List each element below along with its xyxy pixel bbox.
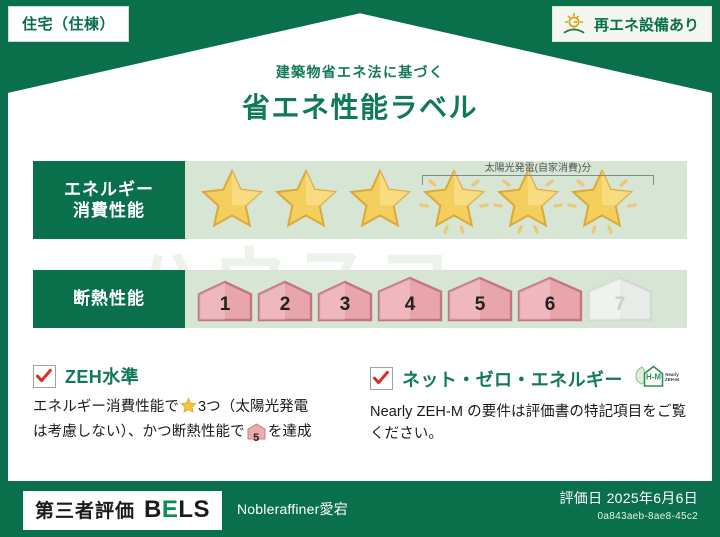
star-base bbox=[343, 165, 417, 235]
evaluation-date: 評価日 2025年6月6日 bbox=[559, 488, 698, 508]
energy-row-label-line1: エネルギー bbox=[64, 179, 154, 200]
insulation-grade-7: 7 bbox=[587, 276, 653, 322]
criterion-net-zero-energy: ネット・ゼロ・エネルギー H-M Nearly ZEH-M Nearly ZEH… bbox=[370, 363, 692, 446]
bels-logo-e: E bbox=[162, 496, 179, 523]
solar-contribution-note: 太陽光発電(自家消費)分 bbox=[422, 159, 654, 185]
criterion-nze-header: ネット・ゼロ・エネルギー H-M Nearly ZEH-M bbox=[370, 363, 692, 394]
insulation-grade-5: 5 bbox=[447, 276, 513, 322]
bels-logo-ls: LS bbox=[178, 496, 210, 523]
criterion-zeh-text-1: エネルギー消費性能で bbox=[33, 399, 179, 415]
criterion-zeh-header: ZEH水準 bbox=[33, 363, 355, 389]
insulation-grade-value: 2 bbox=[257, 294, 313, 316]
bels-jp-label: 第三者評価 bbox=[35, 496, 135, 523]
footer-meta: 評価日 2025年6月6日 0a843aeb-8ae8-45c2 bbox=[559, 488, 698, 522]
criterion-zeh-text-2: 3つ（太陽光発電 bbox=[198, 399, 308, 415]
insulation-grade-value: 1 bbox=[197, 294, 253, 316]
energy-performance-row: エネルギー 消費性能 太陽光発電(自家消費)分 bbox=[33, 161, 687, 239]
check-icon bbox=[370, 367, 393, 390]
energy-row-label-line2: 消費性能 bbox=[73, 200, 145, 221]
energy-row-label: エネルギー 消費性能 bbox=[33, 161, 185, 239]
building-name: Nobleraffiner愛宕 bbox=[237, 499, 348, 519]
svg-text:ZEH-M: ZEH-M bbox=[665, 377, 679, 382]
insulation-grade-value: 3 bbox=[317, 294, 373, 316]
inline-grade-value: 5 bbox=[247, 430, 266, 447]
inline-star-icon bbox=[180, 402, 197, 418]
insulation-row-label-text: 断熱性能 bbox=[73, 288, 145, 309]
bels-certification-box: 第三者評価 BELS bbox=[23, 491, 222, 530]
criterion-zeh-text-4: を達成 bbox=[268, 424, 312, 440]
insulation-grade-4: 4 bbox=[377, 276, 443, 322]
insulation-row-label: 断熱性能 bbox=[33, 270, 185, 328]
bels-logo: BELS bbox=[144, 496, 210, 524]
insulation-grade-6: 6 bbox=[517, 276, 583, 322]
title-main: 省エネ性能ラベル bbox=[0, 86, 720, 126]
nearly-zeh-m-logo: H-M Nearly ZEH-M bbox=[632, 363, 682, 394]
building-type-tab: 住宅（住棟） bbox=[8, 6, 129, 42]
bels-logo-b: B bbox=[144, 496, 162, 523]
criterion-zeh-standard: ZEH水準 エネルギー消費性能で3つ（太陽光発電 は考慮しない）、かつ断熱性能で… bbox=[33, 363, 355, 448]
energy-performance-label: ハウスコ 住宅（住棟） 再エネ設備あり 建築物省エネ法に基づく 省エネ性能ラベル… bbox=[0, 0, 720, 537]
star-base bbox=[195, 165, 269, 235]
solar-bracket bbox=[422, 175, 654, 185]
criterion-nze-title: ネット・ゼロ・エネルギー bbox=[402, 366, 623, 392]
title-subtitle: 建築物省エネ法に基づく bbox=[0, 62, 720, 82]
footer-bar: 第三者評価 BELS Nobleraffiner愛宕 評価日 2025年6月6日… bbox=[0, 481, 720, 537]
renewable-badge-label: 再エネ設備あり bbox=[594, 14, 699, 35]
insulation-grade-value: 4 bbox=[377, 294, 443, 316]
insulation-grade-1: 1 bbox=[197, 280, 253, 322]
renewable-equipment-badge: 再エネ設備あり bbox=[552, 6, 712, 42]
insulation-grade-3: 3 bbox=[317, 280, 373, 322]
insulation-grade-value: 6 bbox=[517, 294, 583, 316]
insulation-performance-row: 断熱性能 1234567 bbox=[33, 270, 687, 328]
inline-grade-badge: 5 bbox=[247, 423, 266, 447]
star-base bbox=[269, 165, 343, 235]
insulation-grade-2: 2 bbox=[257, 280, 313, 322]
check-icon bbox=[33, 365, 56, 388]
insulation-grade-value: 7 bbox=[587, 294, 653, 316]
energy-row-body: 太陽光発電(自家消費)分 bbox=[185, 161, 687, 239]
criterion-zeh-title: ZEH水準 bbox=[65, 363, 139, 389]
building-type-label: 住宅（住棟） bbox=[22, 16, 115, 33]
svg-text:H-M: H-M bbox=[646, 373, 661, 382]
insulation-grade-value: 5 bbox=[447, 294, 513, 316]
solar-sun-icon bbox=[561, 11, 587, 37]
label-title: 建築物省エネ法に基づく 省エネ性能ラベル bbox=[0, 62, 720, 126]
solar-note-label: 太陽光発電(自家消費)分 bbox=[422, 159, 654, 174]
insulation-row-body: 1234567 bbox=[185, 270, 687, 328]
criterion-zeh-body: エネルギー消費性能で3つ（太陽光発電 は考慮しない）、かつ断熱性能で5を達成 bbox=[33, 396, 355, 448]
criterion-zeh-text-3: は考慮しない）、かつ断熱性能で bbox=[33, 424, 245, 440]
evaluation-id: 0a843aeb-8ae8-45c2 bbox=[559, 511, 698, 522]
insulation-grade-scale: 1234567 bbox=[185, 276, 653, 322]
criterion-nze-body: Nearly ZEH-M の要件は評価書の特記項目をご覧ください。 bbox=[370, 401, 692, 446]
